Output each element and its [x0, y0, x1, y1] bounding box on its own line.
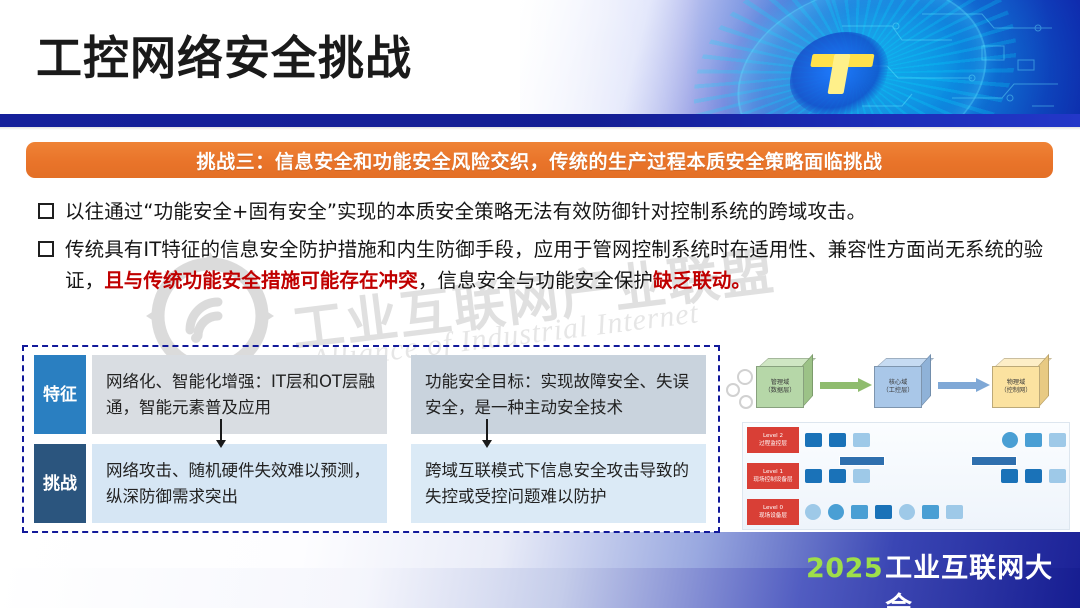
level-0-tag: Level 0 现场设备层	[747, 499, 799, 525]
level-2-tag-line2: 过程监控层	[759, 440, 787, 448]
physical-domain-label-2: （控制网）	[1001, 387, 1032, 395]
core-domain-label-1: 核心域	[889, 379, 908, 387]
bullet-text-2: 传统具有IT特征的信息安全防护措施和内生防御手段，应用于管网控制系统时在适用性、…	[65, 234, 1060, 296]
management-domain-cube: 管理域 （数据层）	[756, 358, 812, 406]
cell-challenge-left: 网络攻击、随机硬件失效难以预测，纵深防御需求突出	[92, 444, 387, 523]
row-tag-challenge: 挑战	[34, 444, 86, 523]
instrument-icon	[922, 505, 939, 519]
feature-challenge-grid: 特征 网络化、智能化增强：IT层和OT层融通，智能元素普及应用 功能安全目标：实…	[34, 355, 706, 523]
other-server-icon	[1049, 433, 1066, 447]
bullet-emphasis-text: 缺乏联动。	[653, 269, 751, 292]
challenge-banner-text: 挑战三：信息安全和功能安全风险交织，传统的生产过程本质安全策略面临挑战	[196, 147, 882, 174]
list-item: 以往通过“功能安全+固有安全”实现的本质安全策略无法有效防御针对控制系统的跨域攻…	[30, 196, 1060, 227]
physical-domain-cube: 物理域 （控制网）	[992, 358, 1048, 406]
plc-4-icon	[1025, 469, 1042, 483]
plc-3-icon	[1001, 469, 1018, 483]
thermometer-icon	[946, 505, 963, 519]
gears-icon	[724, 366, 758, 418]
bullet-list: 以往通过“功能安全+固有安全”实现的本质安全策略无法有效防御针对控制系统的跨域攻…	[30, 196, 1060, 303]
flow-meter-icon	[805, 504, 821, 520]
row-tag-challenge-label: 挑战	[43, 472, 77, 496]
level-1-tag-line1: Level 1	[763, 468, 783, 476]
level-2-tag-line1: Level 2	[763, 432, 783, 440]
domain-flow-diagram: 管理域 （数据层） 核心域 （工控层） 物理域 （控制网）	[724, 352, 1068, 528]
level-2-tag: Level 2 过程监控层	[747, 427, 799, 453]
level-0-tag-line2: 现场设备层	[759, 512, 787, 520]
grid-spacer	[387, 444, 411, 523]
flow-arrow-1	[820, 380, 872, 391]
flow-arrow-2	[938, 380, 990, 391]
physical-domain-label-1: 物理域	[1007, 379, 1026, 387]
down-arrow-icon	[220, 419, 222, 441]
workstation-icon	[805, 433, 822, 447]
core-domain-label-2: （工控层）	[883, 387, 914, 395]
level-row-1: Level 1 现场控制设备层	[743, 461, 1069, 491]
valve-icon	[828, 504, 844, 520]
level-1-tag-line2: 现场控制设备层	[753, 476, 792, 484]
challenge-banner: 挑战三：信息安全和功能安全风险交织，传统的生产过程本质安全策略面临挑战	[26, 142, 1053, 178]
circuit-lines-icon	[832, 6, 1062, 118]
monitor-server-icon	[1025, 433, 1042, 447]
level-1-items	[805, 462, 1066, 490]
core-domain-cube: 核心域 （工控层）	[874, 358, 930, 406]
conference-year: 2025	[806, 553, 883, 584]
management-domain-label-1: 管理域	[771, 379, 790, 387]
cell-feature-left: 网络化、智能化增强：IT层和OT层融通，智能元素普及应用	[92, 355, 387, 434]
header-divider-bar	[0, 114, 1080, 127]
cell-feature-right: 功能安全目标：实现故障安全、失误安全，是一种主动安全技术	[411, 355, 706, 434]
list-item: 传统具有IT特征的信息安全防护措施和内生防御手段，应用于管网控制系统时在适用性、…	[30, 234, 1060, 296]
level-row-2: Level 2 过程监控层	[743, 425, 1069, 455]
conference-name-zh: 工业互联网大会	[885, 546, 1068, 608]
plc-2-icon	[829, 469, 846, 483]
conference-logo: 2025 工业互联网大会 INDUSTRIAL INTERNET CONFERE…	[806, 546, 1068, 592]
level-0-items	[805, 498, 1066, 526]
plant-level-architecture-image: Level 2 过程监控层 Level 1 现场控制设	[742, 422, 1070, 530]
cell-challenge-right: 跨域互联模式下信息安全攻击导致的失控或受控问题难以防护	[411, 444, 706, 523]
level-1-tag: Level 1 现场控制设备层	[747, 463, 799, 489]
down-arrow-icon	[486, 419, 488, 441]
interface-server-icon	[853, 433, 870, 447]
bullet-text-1: 以往通过“功能安全+固有安全”实现的本质安全策略无法有效防御针对控制系统的跨域攻…	[65, 196, 866, 227]
realtime-database-icon	[1002, 432, 1018, 448]
pump-icon	[851, 505, 868, 519]
rtu-1-icon	[853, 469, 870, 483]
grid-spacer	[387, 355, 411, 434]
header-divider-shadow	[0, 127, 1080, 130]
bullet-plain-text: ，信息安全与功能安全保护	[418, 269, 653, 292]
level-0-tag-line1: Level 0	[763, 504, 783, 512]
plc-1-icon	[805, 469, 822, 483]
bullet-plain-text: 以往通过“功能安全+固有安全”实现的本质安全策略无法有效防御针对控制系统的跨域攻…	[65, 200, 866, 223]
engineer-station-icon	[829, 433, 846, 447]
row-tag-feature: 特征	[34, 355, 86, 434]
page-title: 工控网络安全挑战	[36, 22, 412, 88]
slide-root: 工控网络安全挑战 挑战三：信息安全和功能安全风险交织，传统的生产过程本质安全策略…	[0, 0, 1080, 608]
rtu-2-icon	[1049, 469, 1066, 483]
level-row-0: Level 0 现场设备层	[743, 497, 1069, 527]
square-bullet-icon	[38, 203, 54, 219]
t-shield-logo-icon	[800, 48, 883, 100]
feature-challenge-panel: 特征 网络化、智能化增强：IT层和OT层融通，智能元素普及应用 功能安全目标：实…	[22, 345, 720, 533]
bullet-emphasis-text: 且与传统功能安全措施可能存在冲突	[104, 269, 418, 292]
square-bullet-icon	[38, 241, 54, 257]
row-tag-feature-label: 特征	[43, 383, 77, 407]
pressure-gauge-icon	[899, 504, 915, 520]
control-valve-icon	[875, 505, 892, 519]
slide-header: 工控网络安全挑战	[0, 0, 1080, 122]
management-domain-label-2: （数据层）	[765, 387, 796, 395]
level-2-items	[805, 426, 1066, 454]
